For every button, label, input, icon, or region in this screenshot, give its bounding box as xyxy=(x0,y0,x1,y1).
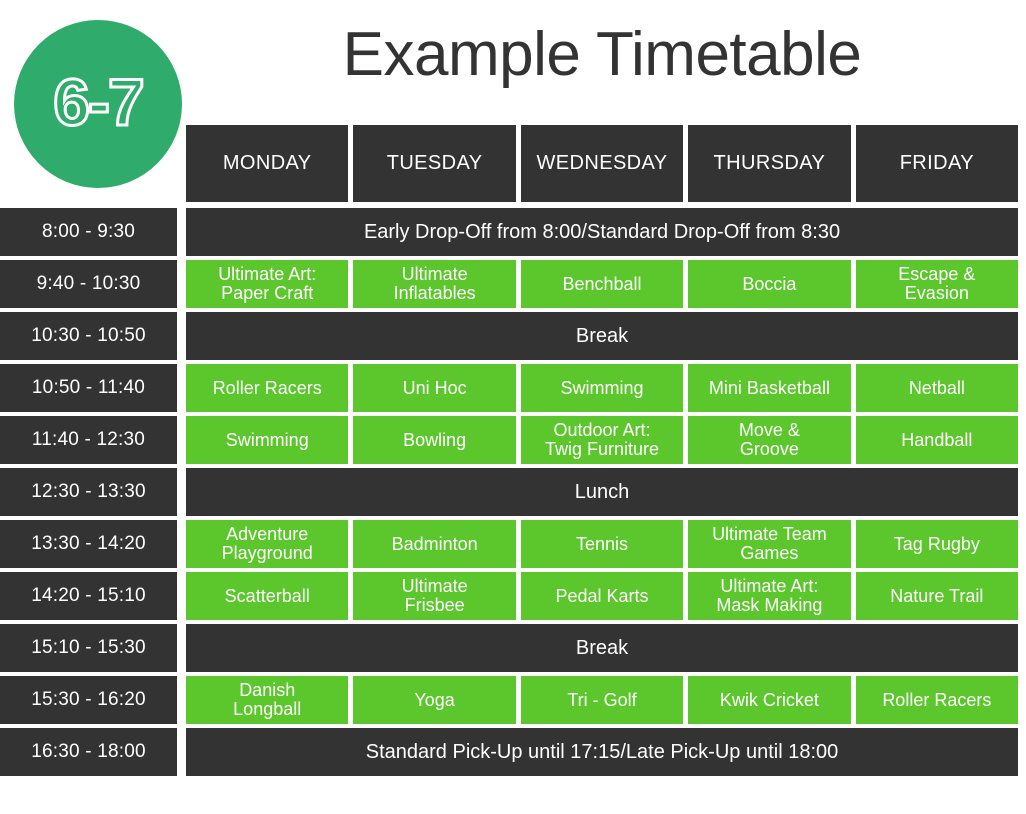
day-header-wednesday[interactable]: WEDNESDAY xyxy=(521,125,683,202)
day-header-friday[interactable]: FRIDAY xyxy=(856,125,1018,202)
activity-cell[interactable]: Move & Groove xyxy=(688,416,850,464)
activity-cell[interactable]: Badminton xyxy=(353,520,515,568)
page-header: 6-7 Example Timetable xyxy=(0,0,1026,120)
time-slot-label: 12:30 - 13:30 xyxy=(0,468,177,516)
row-cells: ScatterballUltimate FrisbeePedal KartsUl… xyxy=(186,572,1018,620)
activity-cell[interactable]: Tag Rugby xyxy=(856,520,1018,568)
time-slot-cell: 11:40 - 12:30 xyxy=(0,416,177,464)
activity-cell[interactable]: Nature Trail xyxy=(856,572,1018,620)
activity-cell[interactable]: Boccia xyxy=(688,260,850,308)
activity-cell[interactable]: Tennis xyxy=(521,520,683,568)
timetable-page: 6-7 Example Timetable MONDAYTUESDAYWEDNE… xyxy=(0,0,1026,814)
activity-cell[interactable]: Swimming xyxy=(186,416,348,464)
time-slot-cell: 16:30 - 18:00 xyxy=(0,728,177,776)
timetable-row: 10:30 - 10:50Break xyxy=(0,312,1018,360)
activity-cell[interactable]: Scatterball xyxy=(186,572,348,620)
activity-cell[interactable]: Roller Racers xyxy=(186,364,348,412)
activity-cell[interactable]: Pedal Karts xyxy=(521,572,683,620)
day-header-row: MONDAYTUESDAYWEDNESDAYTHURSDAYFRIDAY xyxy=(0,125,1018,202)
time-slot-label: 15:30 - 16:20 xyxy=(0,676,177,724)
activity-cell[interactable]: Ultimate Inflatables xyxy=(353,260,515,308)
row-cells: Break xyxy=(186,624,1018,672)
timetable-row: 12:30 - 13:30Lunch xyxy=(0,468,1018,516)
activity-cell[interactable]: Outdoor Art: Twig Furniture xyxy=(521,416,683,464)
activity-cell[interactable]: Ultimate Art: Paper Craft xyxy=(186,260,348,308)
row-cells: Roller RacersUni HocSwimmingMini Basketb… xyxy=(186,364,1018,412)
full-width-note: Standard Pick-Up until 17:15/Late Pick-U… xyxy=(186,728,1018,776)
time-slot-label: 15:10 - 15:30 xyxy=(0,624,177,672)
activity-cell[interactable]: Tri - Golf xyxy=(521,676,683,724)
time-slot-label: 11:40 - 12:30 xyxy=(0,416,177,464)
full-width-note: Break xyxy=(186,312,1018,360)
timetable-row: 15:30 - 16:20Danish LongballYogaTri - Go… xyxy=(0,676,1018,724)
time-slot-cell: 14:20 - 15:10 xyxy=(0,572,177,620)
time-slot-label: 8:00 - 9:30 xyxy=(0,208,177,256)
row-cells: Break xyxy=(186,312,1018,360)
activity-cell[interactable]: Kwik Cricket xyxy=(688,676,850,724)
activity-cell[interactable]: Benchball xyxy=(521,260,683,308)
time-slot-cell: 15:10 - 15:30 xyxy=(0,624,177,672)
row-cells: Standard Pick-Up until 17:15/Late Pick-U… xyxy=(186,728,1018,776)
time-slot-cell: 12:30 - 13:30 xyxy=(0,468,177,516)
activity-cell[interactable]: Swimming xyxy=(521,364,683,412)
timetable-row: 11:40 - 12:30SwimmingBowlingOutdoor Art:… xyxy=(0,416,1018,464)
day-header-monday[interactable]: MONDAY xyxy=(186,125,348,202)
day-header-thursday[interactable]: THURSDAY xyxy=(688,125,850,202)
timetable-row: 10:50 - 11:40Roller RacersUni HocSwimmin… xyxy=(0,364,1018,412)
activity-cell[interactable]: Danish Longball xyxy=(186,676,348,724)
activity-cell[interactable]: Netball xyxy=(856,364,1018,412)
activity-cell[interactable]: Ultimate Frisbee xyxy=(353,572,515,620)
full-width-note: Lunch xyxy=(186,468,1018,516)
time-slot-cell: 10:50 - 11:40 xyxy=(0,364,177,412)
row-cells: Adventure PlaygroundBadmintonTennisUltim… xyxy=(186,520,1018,568)
activity-cell[interactable]: Uni Hoc xyxy=(353,364,515,412)
day-header-tuesday[interactable]: TUESDAY xyxy=(353,125,515,202)
time-slot-label: 10:30 - 10:50 xyxy=(0,312,177,360)
row-cells: SwimmingBowlingOutdoor Art: Twig Furnitu… xyxy=(186,416,1018,464)
activity-cell[interactable]: Roller Racers xyxy=(856,676,1018,724)
time-slot-label: 16:30 - 18:00 xyxy=(0,728,177,776)
time-slot-cell: 9:40 - 10:30 xyxy=(0,260,177,308)
row-cells: Lunch xyxy=(186,468,1018,516)
page-title: Example Timetable xyxy=(186,22,1018,87)
timetable-row: 15:10 - 15:30Break xyxy=(0,624,1018,672)
time-slot-label: 10:50 - 11:40 xyxy=(0,364,177,412)
activity-cell[interactable]: Mini Basketball xyxy=(688,364,850,412)
timetable-row: 9:40 - 10:30Ultimate Art: Paper CraftUlt… xyxy=(0,260,1018,308)
timetable-row: 13:30 - 14:20Adventure PlaygroundBadmint… xyxy=(0,520,1018,568)
time-slot-cell: 13:30 - 14:20 xyxy=(0,520,177,568)
activity-cell[interactable]: Ultimate Team Games xyxy=(688,520,850,568)
timetable-row: 8:00 - 9:30Early Drop-Off from 8:00/Stan… xyxy=(0,208,1018,256)
time-slot-label: 9:40 - 10:30 xyxy=(0,260,177,308)
activity-cell[interactable]: Ultimate Art: Mask Making xyxy=(688,572,850,620)
day-header-cells: MONDAYTUESDAYWEDNESDAYTHURSDAYFRIDAY xyxy=(186,125,1018,202)
full-width-note: Early Drop-Off from 8:00/Standard Drop-O… xyxy=(186,208,1018,256)
full-width-note: Break xyxy=(186,624,1018,672)
activity-cell[interactable]: Escape & Evasion xyxy=(856,260,1018,308)
row-cells: Ultimate Art: Paper CraftUltimate Inflat… xyxy=(186,260,1018,308)
time-slot-cell: 8:00 - 9:30 xyxy=(0,208,177,256)
activity-cell[interactable]: Handball xyxy=(856,416,1018,464)
row-cells: Early Drop-Off from 8:00/Standard Drop-O… xyxy=(186,208,1018,256)
timetable-row: 14:20 - 15:10ScatterballUltimate Frisbee… xyxy=(0,572,1018,620)
activity-cell[interactable]: Bowling xyxy=(353,416,515,464)
row-cells: Danish LongballYogaTri - GolfKwik Cricke… xyxy=(186,676,1018,724)
time-slot-cell: 10:30 - 10:50 xyxy=(0,312,177,360)
time-column-spacer xyxy=(0,125,177,202)
activity-cell[interactable]: Yoga xyxy=(353,676,515,724)
time-slot-label: 14:20 - 15:10 xyxy=(0,572,177,620)
timetable-row: 16:30 - 18:00Standard Pick-Up until 17:1… xyxy=(0,728,1018,776)
timetable-grid: MONDAYTUESDAYWEDNESDAYTHURSDAYFRIDAY8:00… xyxy=(0,125,1026,780)
time-slot-label: 13:30 - 14:20 xyxy=(0,520,177,568)
time-slot-cell: 15:30 - 16:20 xyxy=(0,676,177,724)
activity-cell[interactable]: Adventure Playground xyxy=(186,520,348,568)
